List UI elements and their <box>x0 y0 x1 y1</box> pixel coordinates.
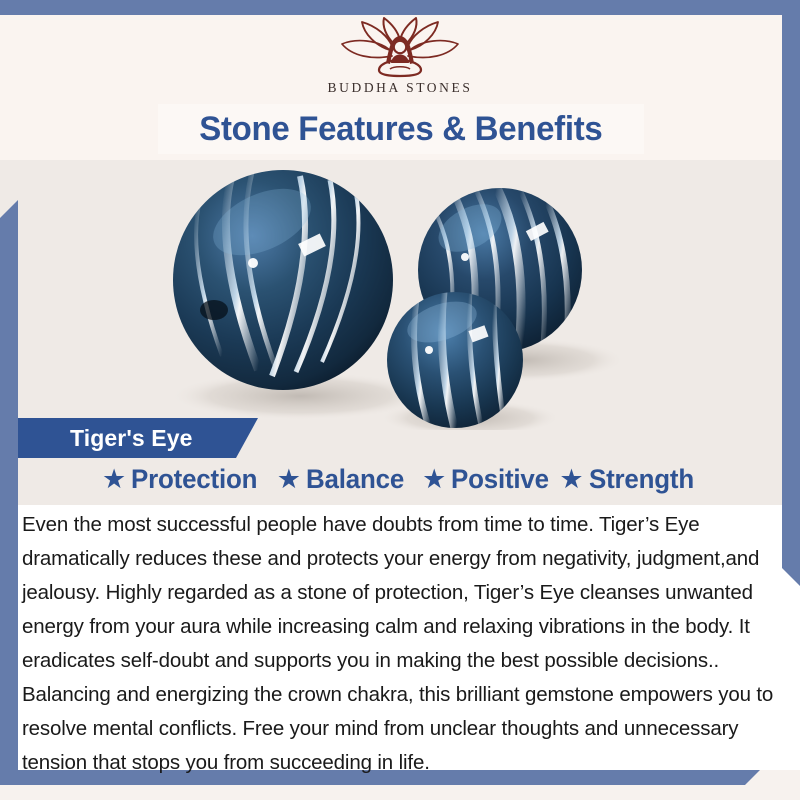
benefits-list: ★ Protection ★ Balance ★ Positive ★ Stre… <box>0 466 800 493</box>
frame-border-top <box>0 0 800 15</box>
star-icon: ★ <box>277 466 301 493</box>
benefit-label: Strength <box>589 466 694 493</box>
benefit-item-protection: ★ Protection <box>102 466 263 493</box>
lotus-meditation-icon <box>334 16 466 78</box>
infographic-card: BUDDHA STONES Stone Features & Benefits … <box>0 0 800 800</box>
stone-name: Tiger's Eye <box>70 425 193 452</box>
stone-name-banner: Tiger's Eye <box>18 418 258 458</box>
star-icon: ★ <box>422 466 446 493</box>
benefit-label: Protection <box>131 466 257 493</box>
page-title: Stone Features & Benefits <box>199 110 602 149</box>
benefit-label: Positive <box>451 466 549 493</box>
star-icon: ★ <box>559 466 583 493</box>
benefit-item-positive: ★ Positive <box>422 466 553 493</box>
brand-logo: BUDDHA STONES <box>0 16 800 96</box>
blue-cats-eye-spheres-icon <box>0 160 800 430</box>
title-banner: Stone Features & Benefits <box>158 104 644 154</box>
benefit-item-balance: ★ Balance <box>277 466 408 493</box>
benefit-label: Balance <box>306 466 404 493</box>
brand-name: BUDDHA STONES <box>328 80 473 96</box>
stone-description: Even the most successful people have dou… <box>22 508 778 780</box>
benefit-item-strength: ★ Strength <box>559 466 698 493</box>
gemstone-photo <box>0 160 800 430</box>
star-icon: ★ <box>102 466 126 493</box>
